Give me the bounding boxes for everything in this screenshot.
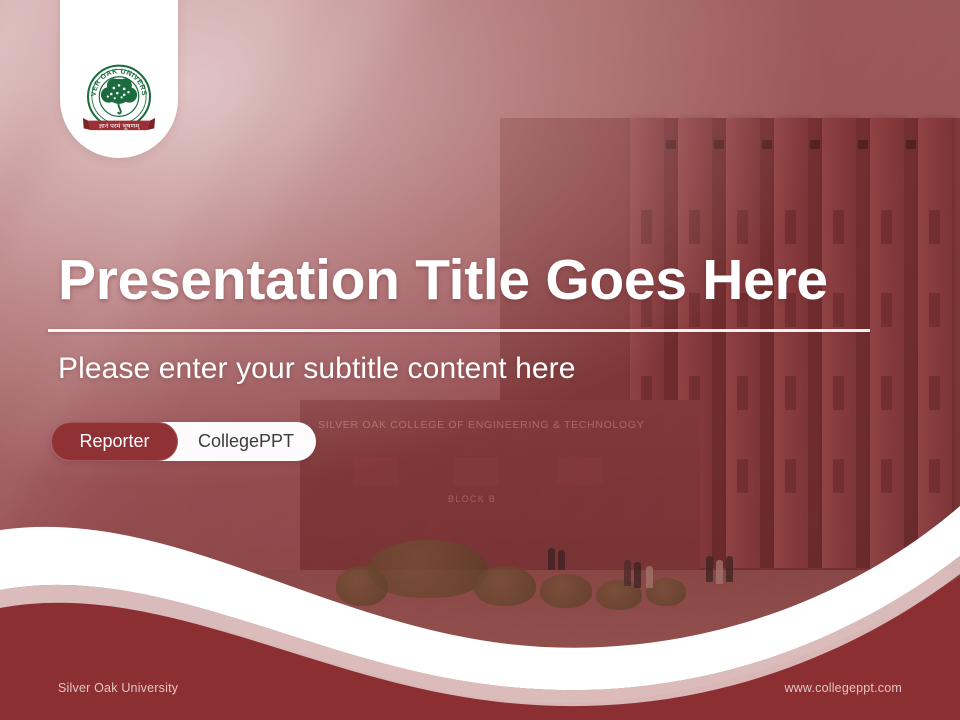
reporter-field[interactable]: Reporter CollegePPT xyxy=(51,422,316,461)
presentation-slide: SILVER OAK COLLEGE OF ENGINEERING & TECH… xyxy=(0,0,960,720)
reporter-tag[interactable]: Reporter xyxy=(51,422,178,461)
title-divider-rule xyxy=(48,329,870,332)
footer-left-text: Silver Oak University xyxy=(58,681,178,695)
university-logo: SILVER OAK UNIVERSITY xyxy=(76,57,162,143)
footer-right-text: www.collegeppt.com xyxy=(784,681,902,695)
reporter-value[interactable]: CollegePPT xyxy=(178,431,294,452)
logo-motto-text: ज्ञानं परमं भूषणम् xyxy=(99,122,140,130)
page-subtitle: Please enter your subtitle content here xyxy=(58,352,576,386)
page-title: Presentation Title Goes Here xyxy=(58,251,828,311)
